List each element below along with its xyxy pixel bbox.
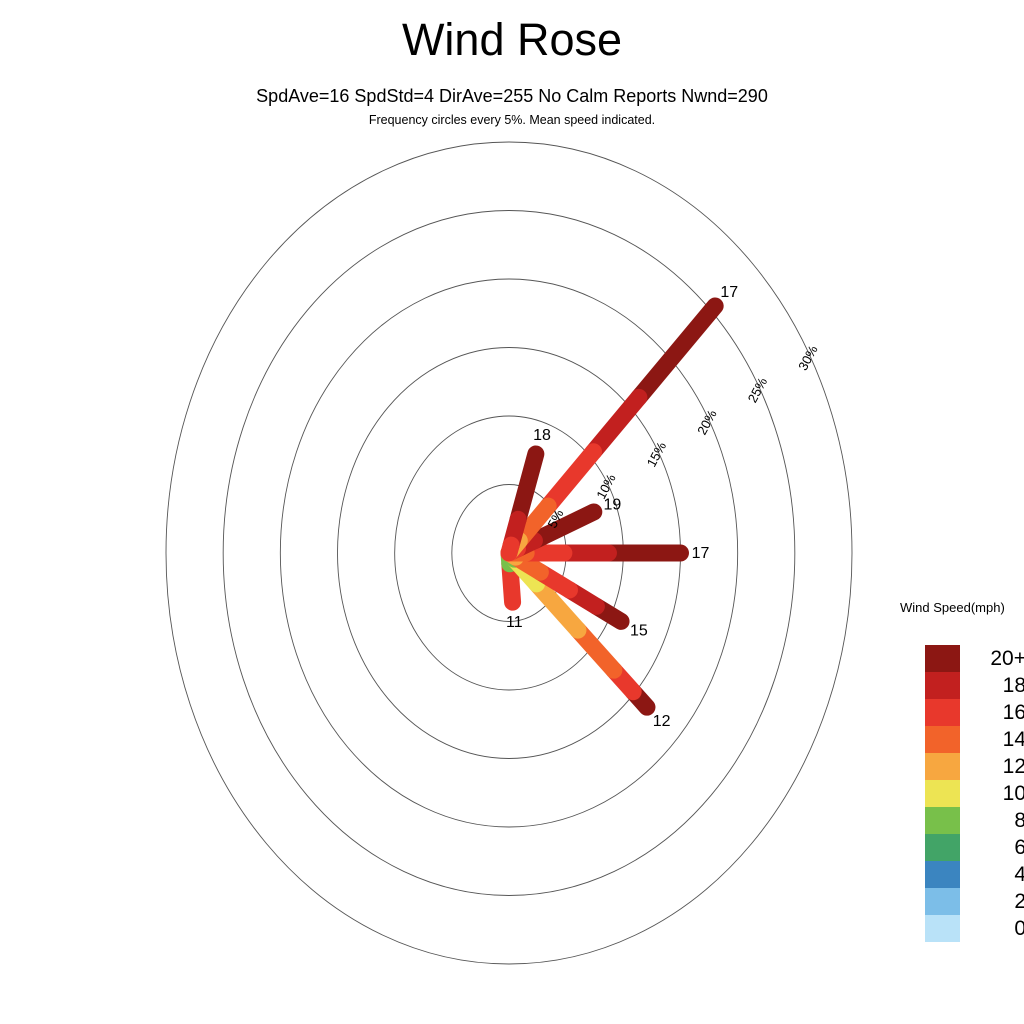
legend-label: 10 <box>960 780 1024 807</box>
legend-color-swatch <box>925 888 960 915</box>
petal-mean-speed-label: 15 <box>630 623 648 640</box>
legend-color-swatch <box>925 861 960 888</box>
legend-row: 8 <box>925 807 1024 834</box>
legend-row: 14 <box>925 726 1024 753</box>
legend-label: 8 <box>960 807 1024 834</box>
legend-row: 4 <box>925 861 1024 888</box>
legend-label: 20+ <box>960 645 1024 672</box>
ring-label: 15% <box>644 439 670 469</box>
legend-color-swatch <box>925 645 960 672</box>
legend-color-swatch <box>925 699 960 726</box>
legend-row: 16 <box>925 699 1024 726</box>
petal-mean-speed-label: 17 <box>720 284 738 301</box>
petal-segment <box>548 452 593 506</box>
petal-segment <box>639 306 715 397</box>
legend-color-swatch <box>925 834 960 861</box>
wind-rose-plot: 5%10%15%20%25%30% 11121517191718 <box>0 0 1024 1024</box>
ring-label-group: 5%10%15%20%25%30% <box>544 342 820 530</box>
legend-row: 18 <box>925 672 1024 699</box>
legend-label: 4 <box>960 861 1024 888</box>
petal-mean-speed-label: 17 <box>692 545 710 562</box>
legend-items: 20+181614121086420 <box>925 645 1024 942</box>
petal-segment <box>509 545 511 553</box>
legend-row: 10 <box>925 780 1024 807</box>
legend-label: 6 <box>960 834 1024 861</box>
legend: Wind Speed(mph) 20+181614121086420 <box>900 600 1024 950</box>
legend-label: 2 <box>960 888 1024 915</box>
legend-label: 12 <box>960 753 1024 780</box>
wind-rose-page: Wind Rose SpdAve=16 SpdStd=4 DirAve=255 … <box>0 0 1024 1024</box>
petal-segment <box>594 397 639 451</box>
petal-segment <box>518 454 536 519</box>
legend-label: 16 <box>960 699 1024 726</box>
petal-mean-speed-label: 11 <box>506 614 523 631</box>
petal-mean-speed-label: 18 <box>533 427 551 444</box>
legend-color-swatch <box>925 672 960 699</box>
legend-row: 0 <box>925 915 1024 942</box>
legend-label: 18 <box>960 672 1024 699</box>
legend-row: 2 <box>925 888 1024 915</box>
petal-mean-speed-label: 19 <box>604 497 622 514</box>
ring-label: 25% <box>745 375 771 405</box>
legend-label: 0 <box>960 915 1024 942</box>
legend-color-swatch <box>925 780 960 807</box>
legend-title: Wind Speed(mph) <box>900 600 1005 615</box>
legend-row: 20+ <box>925 645 1024 672</box>
legend-color-swatch <box>925 753 960 780</box>
ring-label: 30% <box>795 342 821 372</box>
legend-row: 6 <box>925 834 1024 861</box>
petal-mean-speed-label: 12 <box>653 713 671 730</box>
legend-color-swatch <box>925 807 960 834</box>
legend-row: 12 <box>925 753 1024 780</box>
ring-label: 20% <box>694 407 720 437</box>
legend-label: 14 <box>960 726 1024 753</box>
legend-color-swatch <box>925 915 960 942</box>
legend-color-swatch <box>925 726 960 753</box>
petal <box>509 553 647 707</box>
